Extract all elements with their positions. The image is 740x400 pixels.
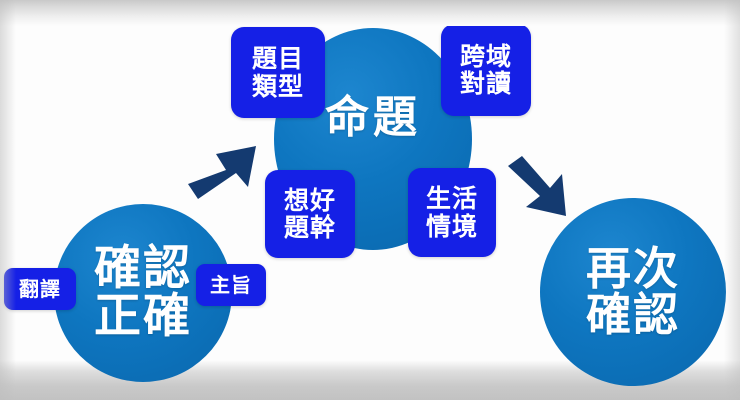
badge-stem-line2: 題幹 bbox=[284, 214, 336, 242]
circle-proposition-label-group: 命題 bbox=[325, 96, 421, 141]
top-letterbox-gradient bbox=[0, 0, 740, 26]
right-edge-fade bbox=[724, 0, 740, 400]
arrow-down-right-icon bbox=[502, 154, 572, 222]
badge-cross-domain-line1: 跨域 bbox=[460, 43, 512, 71]
badge-life-context[interactable]: 生活 情境 bbox=[408, 168, 496, 257]
circle-reconfirm-line2: 確認 bbox=[586, 292, 680, 338]
circle-reconfirm-line1: 再次 bbox=[586, 246, 680, 292]
badge-cross-domain-line2: 對讀 bbox=[460, 70, 512, 98]
diagram-canvas: 確認 正確 命題 再次 確認 題目 類型 跨域 對讀 想好 題幹 生活 情境 翻… bbox=[0, 0, 740, 400]
badge-topic-type-line1: 題目 bbox=[252, 45, 304, 73]
badge-topic-type-line2: 類型 bbox=[252, 73, 304, 101]
badge-stem[interactable]: 想好 題幹 bbox=[265, 170, 355, 258]
badge-gist[interactable]: 主旨 bbox=[196, 264, 266, 306]
left-edge-fade bbox=[0, 0, 16, 400]
badge-life-context-line1: 生活 bbox=[426, 185, 478, 213]
badge-translate-label: 翻譯 bbox=[19, 278, 61, 300]
badge-life-context-line2: 情境 bbox=[426, 213, 478, 241]
arrow-up-right-icon bbox=[186, 140, 264, 202]
badge-stem-line1: 想好 bbox=[284, 187, 336, 215]
circle-confirm-correct-line1: 確認 bbox=[94, 245, 192, 293]
circle-reconfirm[interactable]: 再次 確認 bbox=[540, 198, 726, 386]
circle-confirm-correct-line2: 正確 bbox=[94, 293, 192, 341]
badge-topic-type[interactable]: 題目 類型 bbox=[231, 27, 325, 118]
circle-proposition-line1: 命題 bbox=[325, 96, 421, 141]
badge-translate[interactable]: 翻譯 bbox=[4, 268, 76, 310]
badge-gist-label: 主旨 bbox=[210, 274, 252, 296]
badge-cross-domain[interactable]: 跨域 對讀 bbox=[441, 24, 531, 116]
